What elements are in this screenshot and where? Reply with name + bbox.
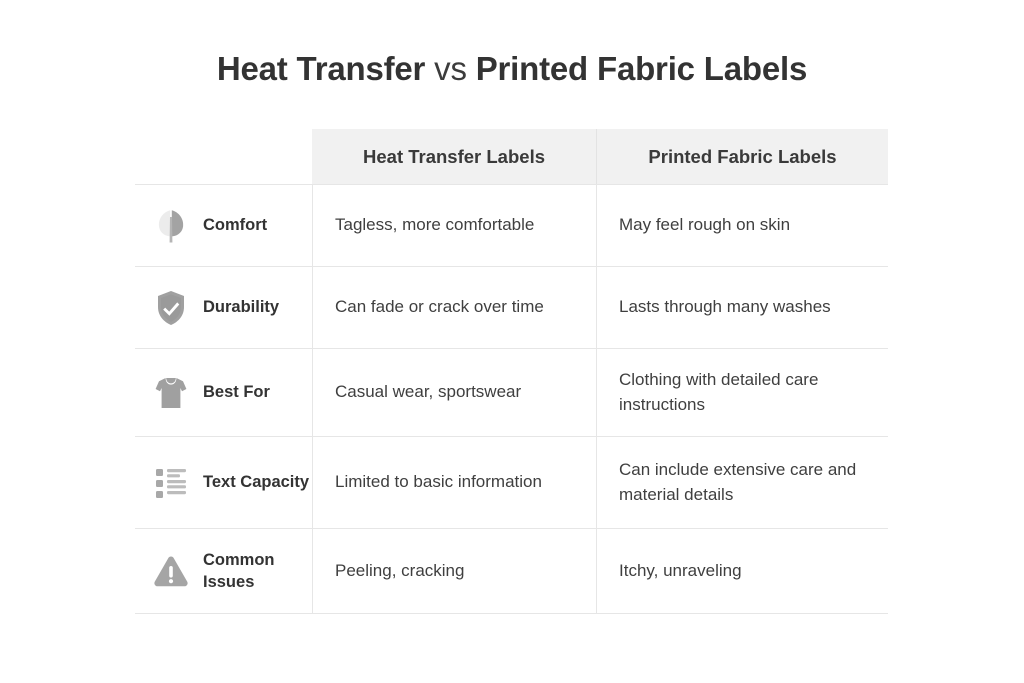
warning-triangle-icon [151, 549, 191, 593]
page-title: Heat Transfer vs Printed Fabric Labels [0, 50, 1024, 88]
list-icon [151, 461, 191, 505]
row-label: Text Capacity [203, 471, 309, 493]
tshirt-icon [151, 371, 191, 415]
cell-heat-transfer: Can fade or crack over time [312, 267, 596, 348]
cell-heat-transfer: Casual wear, sportswear [312, 349, 596, 436]
table-header-row: Heat Transfer Labels Printed Fabric Labe… [135, 129, 888, 184]
cell-printed-fabric: May feel rough on skin [596, 185, 888, 266]
cell-printed-fabric: Itchy, unraveling [596, 529, 888, 613]
cell-printed-fabric: Clothing with detailed care instructions [596, 349, 888, 436]
cell-printed-fabric: Can include extensive care and material … [596, 437, 888, 528]
comparison-table: Heat Transfer Labels Printed Fabric Labe… [135, 129, 888, 614]
row-feature-comfort: Comfort [135, 185, 312, 266]
column-header-heat-transfer: Heat Transfer Labels [312, 129, 596, 184]
table-row: Text Capacity Limited to basic informati… [135, 436, 888, 528]
header-feature-spacer [135, 129, 312, 184]
row-label: Best For [203, 381, 270, 403]
table-row: Common Issues Peeling, cracking Itchy, u… [135, 528, 888, 614]
row-feature-common-issues: Common Issues [135, 529, 312, 613]
cell-printed-fabric: Lasts through many washes [596, 267, 888, 348]
row-label: Durability [203, 296, 279, 318]
comparison-infographic: Heat Transfer vs Printed Fabric Labels H… [0, 0, 1024, 683]
title-vs: vs [434, 50, 467, 87]
row-feature-text-capacity: Text Capacity [135, 437, 312, 528]
row-label: Comfort [203, 214, 267, 236]
row-label: Common Issues [203, 549, 312, 594]
title-part-two: Printed Fabric Labels [476, 50, 807, 87]
title-part-one: Heat Transfer [217, 50, 425, 87]
table-row: Comfort Tagless, more comfortable May fe… [135, 184, 888, 266]
row-feature-durability: Durability [135, 267, 312, 348]
cell-heat-transfer: Tagless, more comfortable [312, 185, 596, 266]
row-feature-best-for: Best For [135, 349, 312, 436]
cell-heat-transfer: Peeling, cracking [312, 529, 596, 613]
column-header-printed-fabric: Printed Fabric Labels [596, 129, 888, 184]
table-row: Best For Casual wear, sportswear Clothin… [135, 348, 888, 436]
cell-heat-transfer: Limited to basic information [312, 437, 596, 528]
shield-check-icon [151, 286, 191, 330]
feather-icon [151, 204, 191, 248]
table-row: Durability Can fade or crack over time L… [135, 266, 888, 348]
